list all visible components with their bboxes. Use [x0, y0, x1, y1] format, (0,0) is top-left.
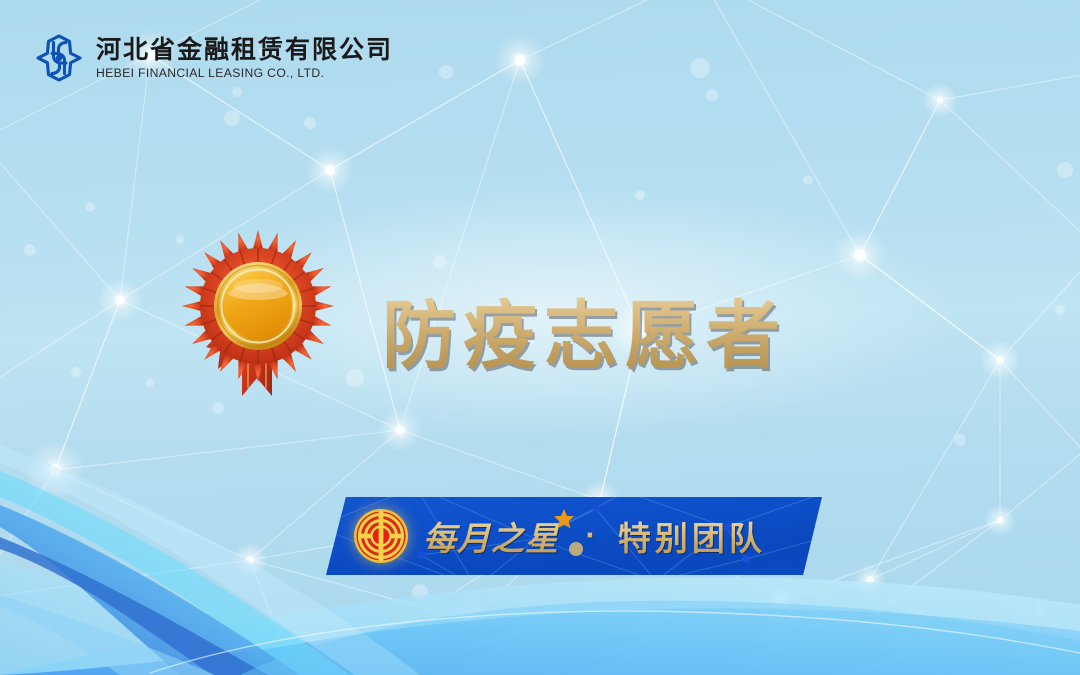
five-point-star-icon	[553, 508, 575, 530]
banner-right-text: 特别团队	[618, 512, 766, 560]
slide-canvas: 河北省金融租赁有限公司 HEBEI FINANCIAL LEASING CO.,…	[0, 0, 1080, 675]
hexagon-s-logo-icon	[33, 32, 85, 84]
company-logo-bar: 河北省金融租赁有限公司 HEBEI FINANCIAL LEASING CO.,…	[33, 32, 393, 84]
company-name-cn: 河北省金融租赁有限公司	[96, 37, 393, 62]
award-banner: 每月之星 · 特别团队	[326, 497, 822, 575]
banner-content: 每月之星 · 特别团队	[326, 497, 822, 575]
banner-separator: ·	[585, 521, 595, 551]
company-name-block: 河北省金融租赁有限公司 HEBEI FINANCIAL LEASING CO.,…	[96, 37, 393, 79]
trade-union-emblem-icon	[352, 507, 410, 565]
company-name-en: HEBEI FINANCIAL LEASING CO., LTD.	[96, 67, 393, 79]
rosette-ribbon-icon	[182, 228, 334, 403]
banner-left-text: 每月之星	[423, 512, 559, 560]
page-title: 防疫志愿者	[382, 286, 802, 372]
